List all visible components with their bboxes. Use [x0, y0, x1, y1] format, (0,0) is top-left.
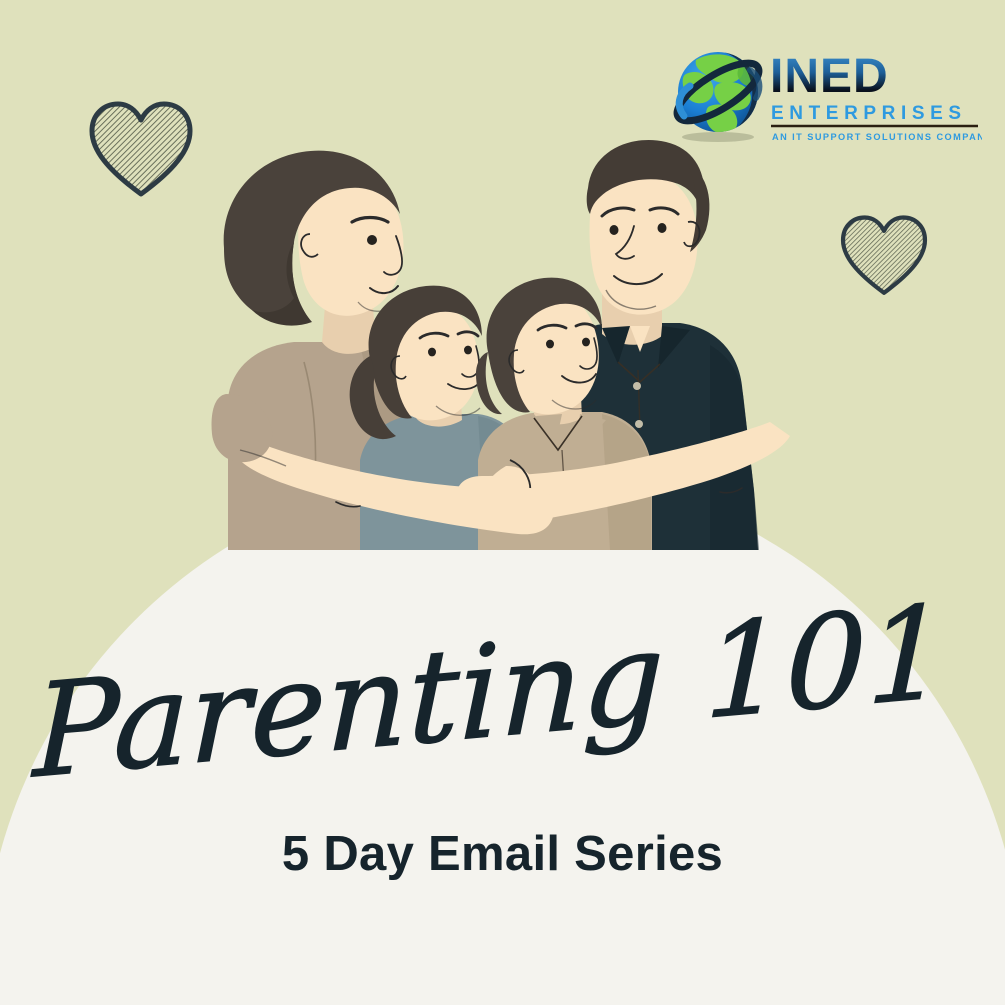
poster-canvas: INED ENTERPRISES AN IT SUPPORT SOLUTIONS…	[0, 0, 1005, 1005]
ined-enterprises-logo: INED ENTERPRISES AN IT SUPPORT SOLUTIONS…	[672, 40, 982, 150]
headline-title-art: Parenting 101	[133, 587, 873, 787]
headline-title: Parenting 101	[30, 578, 949, 808]
logo-brand: INED	[770, 50, 889, 103]
family-illustration	[210, 130, 810, 570]
heart-icon	[86, 100, 196, 200]
headline-title-container: Parenting 101	[0, 582, 1005, 792]
heart-icon	[838, 214, 930, 298]
logo-subbrand: ENTERPRISES	[771, 103, 967, 124]
globe-shadow	[682, 132, 754, 142]
headline-subtitle: 5 Day Email Series	[0, 826, 1005, 882]
logo-tagline: AN IT SUPPORT SOLUTIONS COMPANY	[772, 132, 982, 142]
